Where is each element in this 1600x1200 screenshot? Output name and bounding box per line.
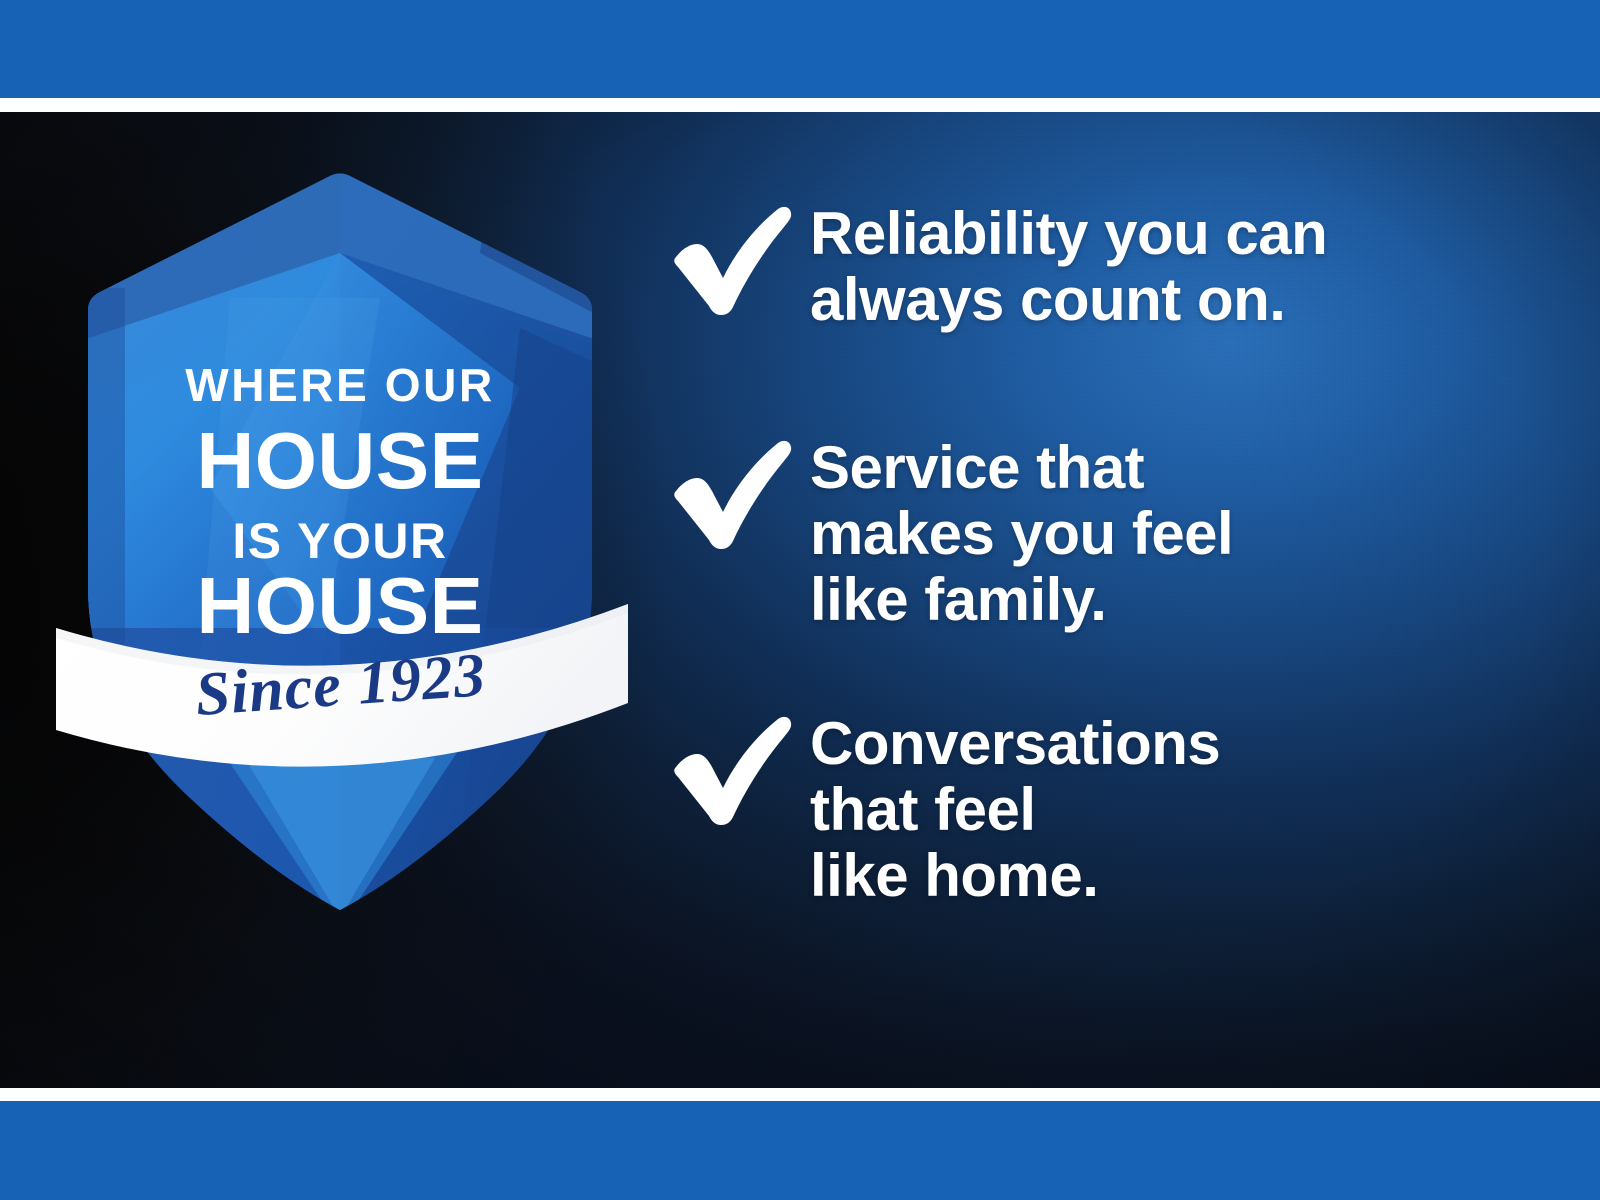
shield-line-1: WHERE OUR: [185, 359, 495, 411]
promo-poster: WHERE OUR HOUSE IS YOUR HOUSE Since 1923…: [0, 0, 1600, 1200]
checkmark-icon: [660, 195, 810, 317]
benefits-list: Reliability you can always count on. Ser…: [660, 195, 1540, 909]
checkmark-icon: [660, 705, 810, 827]
shield-text-block: WHERE OUR HOUSE IS YOUR HOUSE: [185, 359, 495, 650]
benefit-text: Conversations that feel like home.: [810, 705, 1540, 909]
benefit-item-service: Service that makes you feel like family.: [660, 429, 1540, 633]
top-brand-bar: [0, 0, 1600, 98]
shield-line-4: HOUSE: [197, 561, 484, 650]
bottom-brand-bar: [0, 1101, 1600, 1200]
top-white-divider: [0, 98, 1600, 112]
benefit-item-reliability: Reliability you can always count on.: [660, 195, 1540, 333]
company-shield-logo: WHERE OUR HOUSE IS YOUR HOUSE Since 1923: [50, 158, 630, 838]
bottom-white-divider: [0, 1088, 1600, 1101]
shield-line-2: HOUSE: [197, 416, 484, 505]
benefit-item-conversations: Conversations that feel like home.: [660, 705, 1540, 909]
benefit-text: Service that makes you feel like family.: [810, 429, 1540, 633]
benefit-text: Reliability you can always count on.: [810, 195, 1540, 333]
checkmark-icon: [660, 429, 810, 551]
